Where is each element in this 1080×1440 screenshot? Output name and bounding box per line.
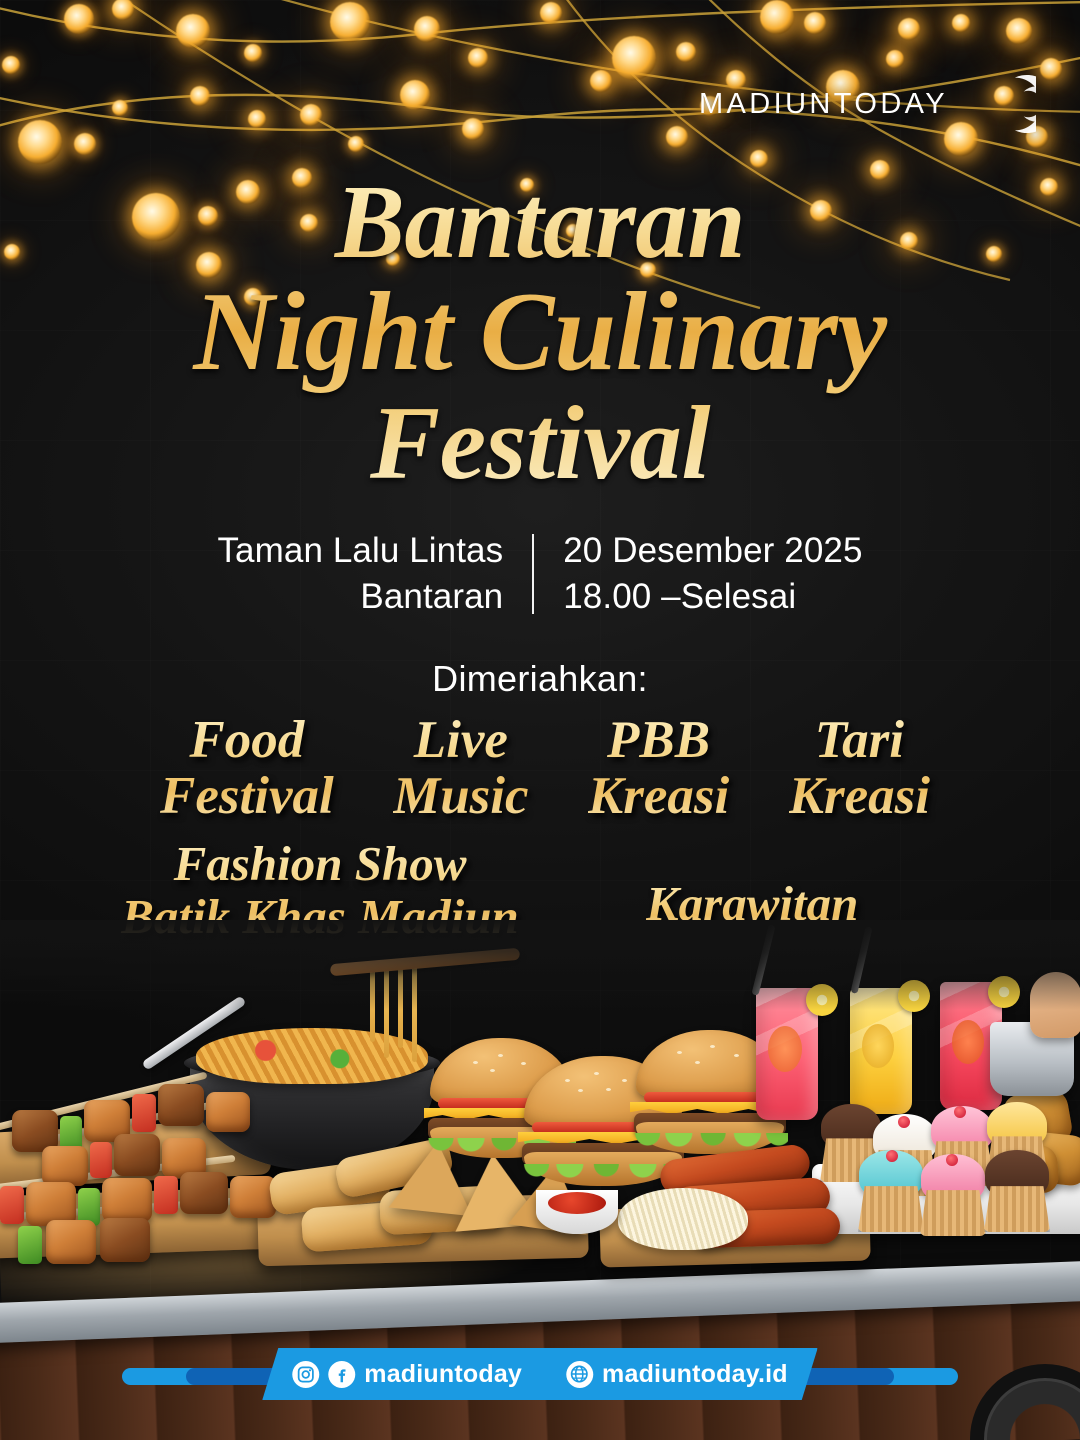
lineup-item-live-music: Live Music	[393, 712, 528, 824]
globe-icon[interactable]	[566, 1361, 593, 1388]
datetime-block: 20 Desember 2025 18.00 –Selesai	[534, 528, 862, 619]
website-group[interactable]: madiuntoday.id	[566, 1360, 788, 1389]
lineup-item-tari-kreasi: Tari Kreasi	[789, 712, 930, 824]
title-line-3: Festival	[0, 389, 1080, 496]
lineup-item-line-2: Music	[393, 768, 528, 824]
venue-block: Taman Lalu Lintas Bantaran	[217, 528, 532, 619]
social-bar: madiuntoday madiuntoday.id	[0, 1348, 1080, 1406]
instagram-icon[interactable]	[292, 1361, 319, 1388]
logo-wordmark: MADIUNTODAY	[699, 88, 948, 121]
social-handle: madiuntoday	[364, 1360, 522, 1389]
event-date: 20 Desember 2025	[563, 528, 862, 574]
lineup-item-pbb-kreasi: PBB Kreasi	[588, 712, 729, 824]
lineup-row-1: Food Festival Live Music PBB Kreasi Tari…	[160, 712, 930, 824]
venue-line-1: Taman Lalu Lintas	[217, 528, 503, 574]
lineup-heading: Dimeriahkan:	[0, 658, 1080, 700]
social-handles-tag: madiuntoday madiuntoday.id	[262, 1348, 817, 1400]
lineup-item-line-2: Kreasi	[588, 768, 729, 824]
coleslaw	[618, 1188, 748, 1250]
venue-line-2: Bantaran	[217, 574, 503, 620]
hand	[1030, 972, 1080, 1038]
lineup-item-food-festival: Food Festival	[160, 712, 334, 824]
lineup-item-line-2: Festival	[160, 768, 334, 824]
lineup-item-line-1: Live	[393, 712, 528, 768]
lineup-item-line-1: Fashion Show	[0, 838, 640, 891]
instagram-handle-group[interactable]: madiuntoday	[292, 1360, 522, 1389]
website-url: madiuntoday.id	[602, 1360, 788, 1389]
event-title: Bantaran Night Culinary Festival	[0, 168, 1080, 496]
lineup-item-line-1: Tari	[789, 712, 930, 768]
title-line-2: Night Culinary	[0, 275, 1080, 389]
facebook-icon[interactable]	[328, 1361, 355, 1388]
lineup-item-line-1: PBB	[588, 712, 729, 768]
poster: MADIUNTODAY Bantaran Night Culinary Fest…	[0, 0, 1080, 1440]
crescent-swoosh-icon	[948, 60, 1036, 148]
event-info: Taman Lalu Lintas Bantaran 20 Desember 2…	[0, 528, 1080, 619]
brand-logo: MADIUNTODAY	[699, 60, 1036, 148]
lineup-item-line-1: Food	[160, 712, 334, 768]
title-line-1: Bantaran	[0, 168, 1080, 275]
lineup-item-line-2: Kreasi	[789, 768, 930, 824]
chili-sauce	[548, 1192, 606, 1214]
event-time: 18.00 –Selesai	[563, 574, 862, 620]
